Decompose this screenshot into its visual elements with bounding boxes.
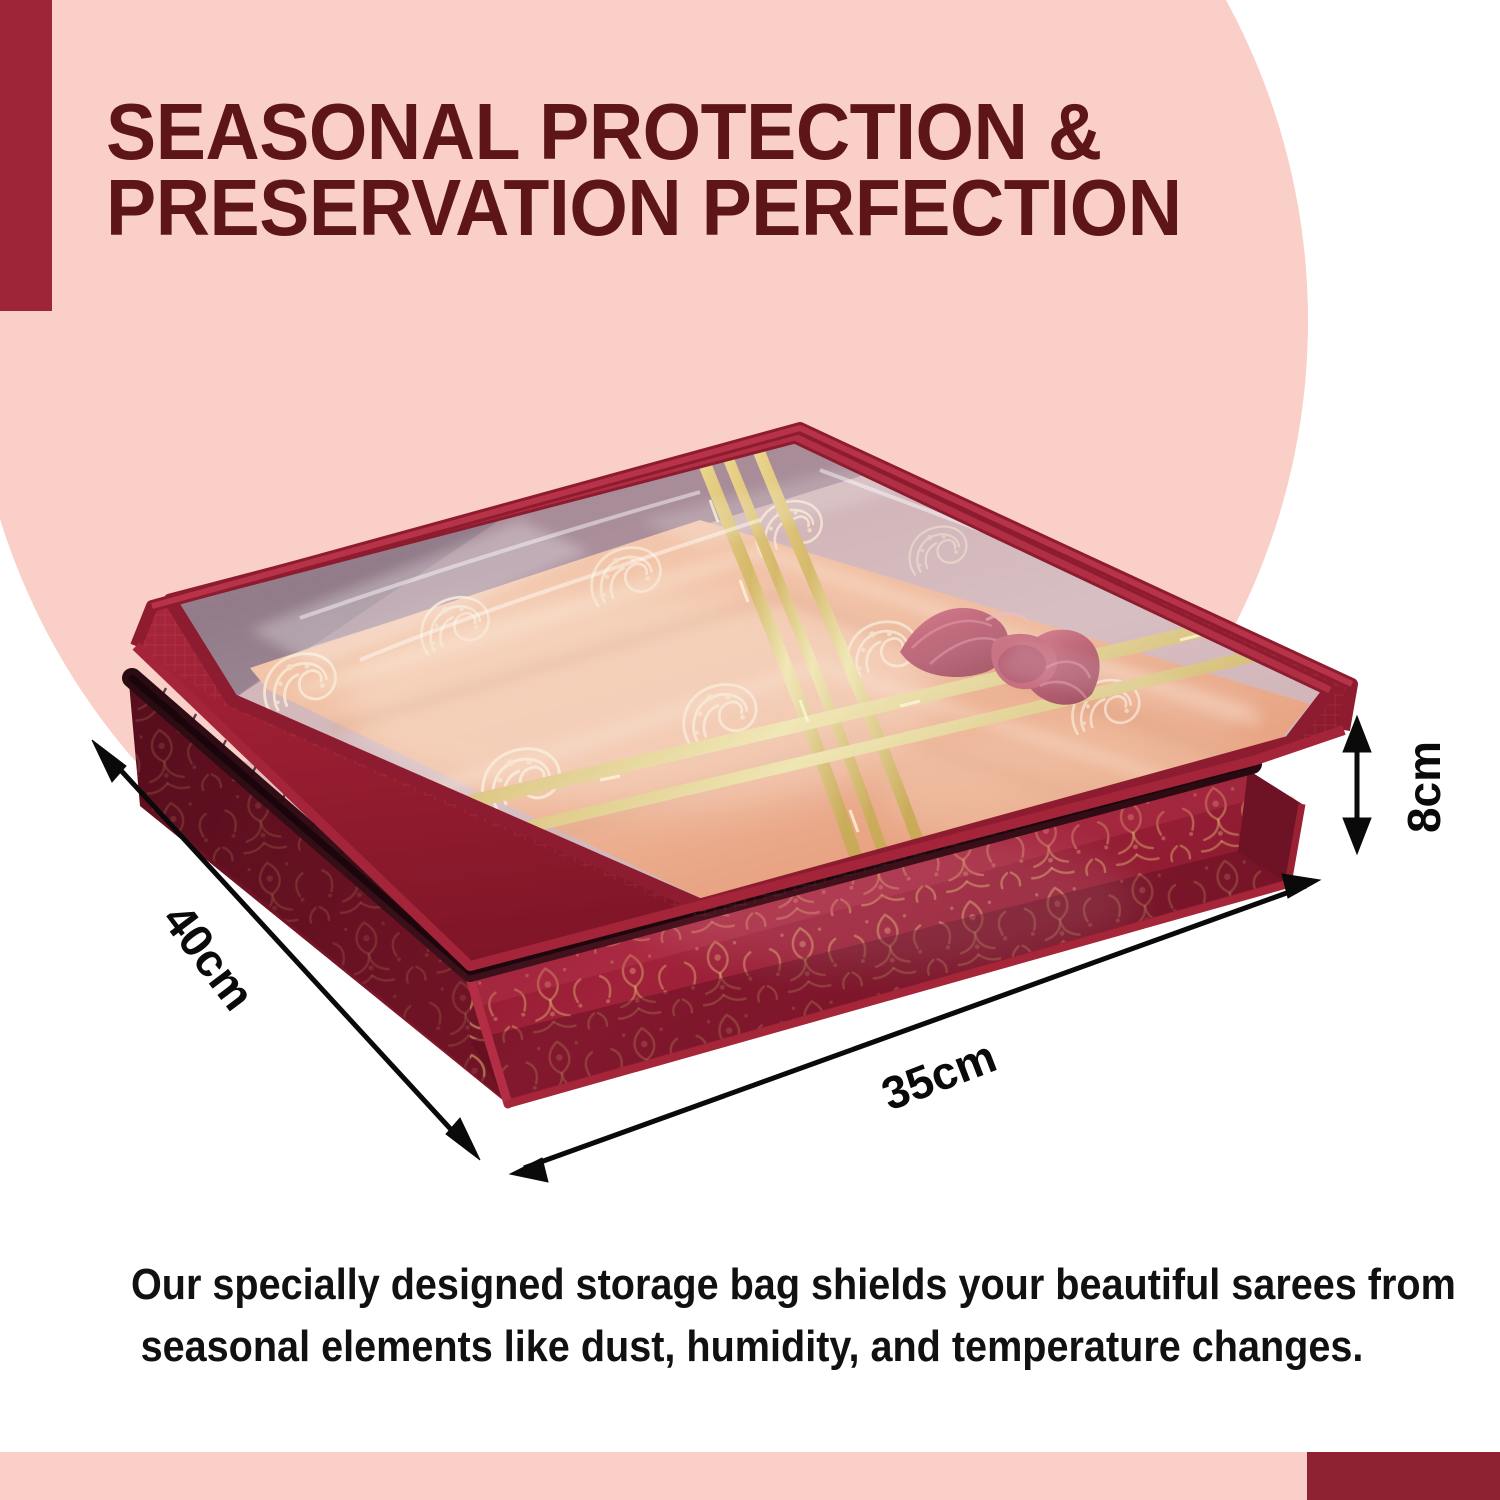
- footer-strip-pink: [0, 1452, 1307, 1500]
- dimension-label-width: 35cm: [874, 1029, 1003, 1122]
- left-accent-bar: [0, 0, 52, 311]
- dimension-label-height: 8cm: [1397, 741, 1451, 833]
- footer-strip-crimson: [1307, 1452, 1500, 1500]
- arrow-8cm: [1343, 716, 1371, 854]
- infographic-canvas: SEASONAL PROTECTION & PRESERVATION PERFE…: [0, 0, 1500, 1500]
- dimension-label-depth: 40cm: [152, 894, 266, 1020]
- headline-line-1: SEASONAL PROTECTION &: [106, 94, 1215, 170]
- headline-line-2: PRESERVATION PERFECTION: [106, 170, 1215, 246]
- caption-line-2: seasonal elements like dust, humidity, a…: [131, 1316, 1373, 1378]
- caption-text: Our specially designed storage bag shiel…: [131, 1254, 1373, 1379]
- caption-line-1: Our specially designed storage bag shiel…: [131, 1254, 1373, 1316]
- page-title: SEASONAL PROTECTION & PRESERVATION PERFE…: [106, 94, 1215, 246]
